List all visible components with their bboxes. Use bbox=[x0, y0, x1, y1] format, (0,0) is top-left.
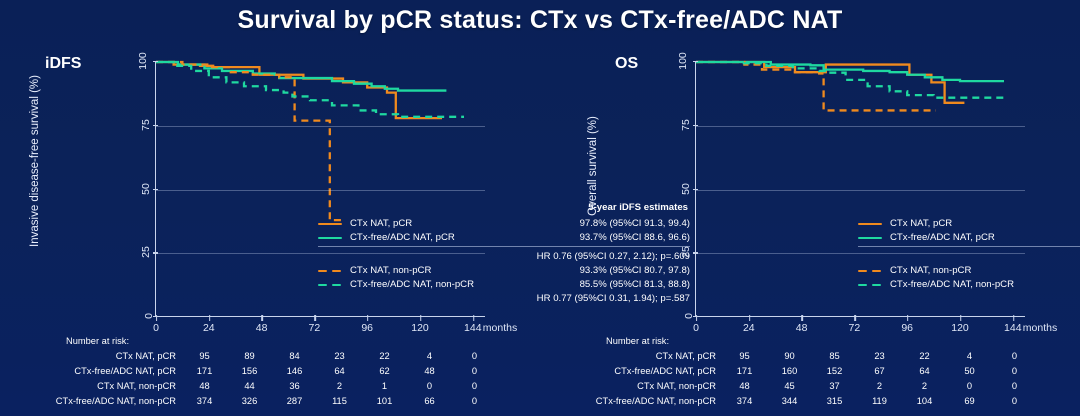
gridline bbox=[696, 126, 1025, 127]
km-curve bbox=[696, 62, 964, 103]
gridline bbox=[696, 190, 1025, 191]
risk-cell: 344 bbox=[767, 394, 812, 409]
risk-cell: 287 bbox=[272, 394, 317, 409]
y-tick-os-0: 0 bbox=[666, 310, 692, 322]
legend-value: 95.8% (95%CI 93.0, 97.5) bbox=[1014, 278, 1080, 291]
panel-label-os: OS bbox=[615, 55, 638, 73]
hazard-ratio-nonpcr-os: HR 1.49 (95%CI 0.44, 5.03); p=.523 bbox=[858, 292, 1080, 305]
risk-cell: 115 bbox=[317, 394, 362, 409]
risk-cell: 160 bbox=[767, 364, 812, 379]
risk-cell: 4 bbox=[947, 349, 992, 364]
risk-cell: 64 bbox=[317, 364, 362, 379]
legend-divider bbox=[858, 246, 1080, 247]
panel-idfs: iDFS Invasive disease-free survival (%) … bbox=[0, 50, 540, 340]
risk-cell: 119 bbox=[857, 394, 902, 409]
legend-swatch-dashed-green-icon bbox=[318, 279, 344, 290]
risk-cell: 84 bbox=[272, 349, 317, 364]
risk-cell: 0 bbox=[452, 379, 497, 394]
km-curve bbox=[156, 62, 345, 220]
hazard-ratio-pcr-os: HR 1.10 (95%CI 0.28, 4.32); p=.895 bbox=[858, 250, 1080, 263]
risk-cell: 44 bbox=[227, 379, 272, 394]
risk-cell: 101 bbox=[362, 394, 407, 409]
risk-cell: 2 bbox=[857, 379, 902, 394]
legend-row: CTx NAT, non-pCR 95.5% (95%CI 93.2, 98.9… bbox=[858, 264, 1080, 277]
number-at-risk-title: Number at risk: bbox=[66, 336, 129, 346]
risk-cell: 0 bbox=[452, 364, 497, 379]
legend-swatch-dashed-orange-icon bbox=[858, 265, 884, 276]
legend-swatch-dashed-green-icon bbox=[858, 279, 884, 290]
risk-row-label: CTx-free/ADC NAT, pCR bbox=[10, 364, 182, 379]
table-row: CTx NAT, pCR958984232240 bbox=[10, 349, 497, 364]
risk-cell: 0 bbox=[992, 364, 1037, 379]
legend-swatch-solid-orange-icon bbox=[318, 218, 344, 229]
risk-cell: 2 bbox=[317, 379, 362, 394]
risk-cell: 146 bbox=[272, 364, 317, 379]
y-tick-idfs-0: 0 bbox=[126, 310, 152, 322]
legend-label: CTx-free/ADC NAT, non-pCR bbox=[350, 278, 474, 291]
x-tick-os-48: 48 bbox=[796, 322, 808, 334]
legend-value: 98.9% (95%CI 92.1, 99.8) bbox=[952, 217, 1080, 230]
risk-cell: 315 bbox=[812, 394, 857, 409]
risk-cell: 48 bbox=[722, 379, 767, 394]
risk-cell: 89 bbox=[227, 349, 272, 364]
risk-cell: 50 bbox=[947, 364, 992, 379]
legend-swatch-solid-orange-icon bbox=[858, 218, 884, 229]
legend-heading-os: 5-year OS estimates bbox=[858, 202, 1080, 216]
risk-cell: 85 bbox=[812, 349, 857, 364]
x-tick-idfs-120: 120 bbox=[411, 322, 429, 334]
table-row: CTx-free/ADC NAT, pCR1711601526764500 bbox=[550, 364, 1037, 379]
y-tick-idfs-75: 75 bbox=[126, 119, 152, 131]
risk-cell: 90 bbox=[767, 349, 812, 364]
legend-label: CTx NAT, non-pCR bbox=[350, 264, 431, 277]
y-axis-label-idfs: Invasive disease-free survival (%) bbox=[29, 66, 41, 256]
number-at-risk-table: CTx NAT, pCR959085232240CTx-free/ADC NAT… bbox=[550, 349, 1037, 409]
risk-cell: 45 bbox=[767, 379, 812, 394]
x-tick-idfs-144: 144 bbox=[464, 322, 482, 334]
y-tick-idfs-100: 100 bbox=[126, 55, 152, 67]
x-tick-idfs-96: 96 bbox=[361, 322, 373, 334]
risk-cell: 67 bbox=[857, 364, 902, 379]
risk-row-label: CTx NAT, non-pCR bbox=[550, 379, 722, 394]
risk-cell: 152 bbox=[812, 364, 857, 379]
risk-row-label: CTx NAT, non-pCR bbox=[10, 379, 182, 394]
risk-cell: 22 bbox=[902, 349, 947, 364]
risk-cell: 374 bbox=[722, 394, 767, 409]
risk-row-label: CTx-free/ADC NAT, non-pCR bbox=[10, 394, 182, 409]
x-tick-os-24: 24 bbox=[743, 322, 755, 334]
risk-cell: 156 bbox=[227, 364, 272, 379]
risk-cell: 95 bbox=[182, 349, 227, 364]
legend-row: CTx NAT, pCR 98.9% (95%CI 92.1, 99.8) bbox=[858, 217, 1080, 230]
x-tick-idfs-48: 48 bbox=[256, 322, 268, 334]
legend-swatch-solid-green-icon bbox=[318, 232, 344, 243]
risk-cell: 0 bbox=[992, 394, 1037, 409]
y-tick-os-100: 100 bbox=[666, 55, 692, 67]
gridline bbox=[156, 253, 485, 254]
legend-label: CTx NAT, pCR bbox=[350, 217, 412, 230]
risk-cell: 95 bbox=[722, 349, 767, 364]
risk-row-label: CTx-free/ADC NAT, pCR bbox=[550, 364, 722, 379]
panel-os: OS Overall survival (%) months 5-year OS… bbox=[540, 50, 1080, 340]
risk-row-label: CTx-free/ADC NAT, non-pCR bbox=[550, 394, 722, 409]
x-tick-os-144: 144 bbox=[1004, 322, 1022, 334]
y-axis-label-os: Overall survival (%) bbox=[587, 91, 599, 241]
risk-cell: 374 bbox=[182, 394, 227, 409]
table-row: CTx NAT, non-pCR4845372200 bbox=[550, 379, 1037, 394]
table-row: CTx-free/ADC NAT, pCR1711561466462480 bbox=[10, 364, 497, 379]
risk-cell: 23 bbox=[857, 349, 902, 364]
risk-cell: 22 bbox=[362, 349, 407, 364]
risk-cell: 23 bbox=[317, 349, 362, 364]
risk-cell: 0 bbox=[992, 349, 1037, 364]
legend-value: 98.7% (95%CI 95.0, 99.7) bbox=[995, 231, 1080, 244]
risk-cell: 171 bbox=[722, 364, 767, 379]
risk-cell: 64 bbox=[902, 364, 947, 379]
y-tick-os-75: 75 bbox=[666, 119, 692, 131]
slide-root: Survival by pCR status: CTx vs CTx-free/… bbox=[0, 0, 1080, 416]
y-tick-idfs-50: 50 bbox=[126, 183, 152, 195]
x-tick-os-0: 0 bbox=[693, 322, 699, 334]
legend-label: CTx-free/ADC NAT, pCR bbox=[890, 231, 995, 244]
legend-label: CTx NAT, non-pCR bbox=[890, 264, 971, 277]
x-tick-os-96: 96 bbox=[901, 322, 913, 334]
legend-label: CTx-free/ADC NAT, pCR bbox=[350, 231, 455, 244]
risk-cell: 104 bbox=[902, 394, 947, 409]
plot-area-idfs: months 5-year iDFS estimates CTx NAT, pC… bbox=[155, 62, 485, 317]
risk-cell: 48 bbox=[407, 364, 452, 379]
risk-row-label: CTx NAT, pCR bbox=[550, 349, 722, 364]
legend-row: CTx-free/ADC NAT, pCR 98.7% (95%CI 95.0,… bbox=[858, 231, 1080, 244]
table-row: CTx NAT, non-pCR4844362100 bbox=[10, 379, 497, 394]
risk-row-label: CTx NAT, pCR bbox=[10, 349, 182, 364]
page-title: Survival by pCR status: CTx vs CTx-free/… bbox=[0, 6, 1080, 35]
x-axis-unit-os: months bbox=[1023, 322, 1057, 334]
risk-cell: 0 bbox=[407, 379, 452, 394]
gridline bbox=[156, 126, 485, 127]
risk-cell: 37 bbox=[812, 379, 857, 394]
x-tick-idfs-72: 72 bbox=[309, 322, 321, 334]
risk-cell: 36 bbox=[272, 379, 317, 394]
number-at-risk-table: CTx NAT, pCR958984232240CTx-free/ADC NAT… bbox=[10, 349, 497, 409]
legend-row: CTx-free/ADC NAT, non-pCR 95.8% (95%CI 9… bbox=[858, 278, 1080, 291]
panel-label-idfs: iDFS bbox=[45, 55, 81, 73]
risk-cell: 171 bbox=[182, 364, 227, 379]
risk-cell: 0 bbox=[992, 379, 1037, 394]
risk-cell: 62 bbox=[362, 364, 407, 379]
legend-label: CTx-free/ADC NAT, non-pCR bbox=[890, 278, 1014, 291]
number-at-risk-title: Number at risk: bbox=[606, 336, 669, 346]
gridline bbox=[156, 190, 485, 191]
plot-area-os: months 5-year OS estimates CTx NAT, pCR … bbox=[695, 62, 1025, 317]
risk-cell: 69 bbox=[947, 394, 992, 409]
x-axis-unit-idfs: months bbox=[483, 322, 517, 334]
risk-cell: 2 bbox=[902, 379, 947, 394]
x-tick-idfs-24: 24 bbox=[203, 322, 215, 334]
risk-cell: 1 bbox=[362, 379, 407, 394]
legend-value: 95.5% (95%CI 93.2, 98.9) bbox=[971, 264, 1080, 277]
risk-cell: 0 bbox=[947, 379, 992, 394]
table-row: CTx-free/ADC NAT, non-pCR374344315119104… bbox=[550, 394, 1037, 409]
y-tick-os-50: 50 bbox=[666, 183, 692, 195]
risk-cell: 48 bbox=[182, 379, 227, 394]
risk-cell: 326 bbox=[227, 394, 272, 409]
x-tick-os-72: 72 bbox=[849, 322, 861, 334]
risk-cell: 0 bbox=[452, 394, 497, 409]
legend-swatch-dashed-orange-icon bbox=[318, 265, 344, 276]
legend-label: CTx NAT, pCR bbox=[890, 217, 952, 230]
legend-swatch-solid-green-icon bbox=[858, 232, 884, 243]
x-tick-os-120: 120 bbox=[951, 322, 969, 334]
table-row: CTx NAT, pCR959085232240 bbox=[550, 349, 1037, 364]
risk-cell: 0 bbox=[452, 349, 497, 364]
risk-cell: 66 bbox=[407, 394, 452, 409]
y-tick-idfs-25: 25 bbox=[126, 246, 152, 258]
gridline bbox=[696, 253, 1025, 254]
risk-cell: 4 bbox=[407, 349, 452, 364]
table-row: CTx-free/ADC NAT, non-pCR374326287115101… bbox=[10, 394, 497, 409]
y-tick-os-25: 25 bbox=[666, 246, 692, 258]
x-tick-idfs-0: 0 bbox=[153, 322, 159, 334]
